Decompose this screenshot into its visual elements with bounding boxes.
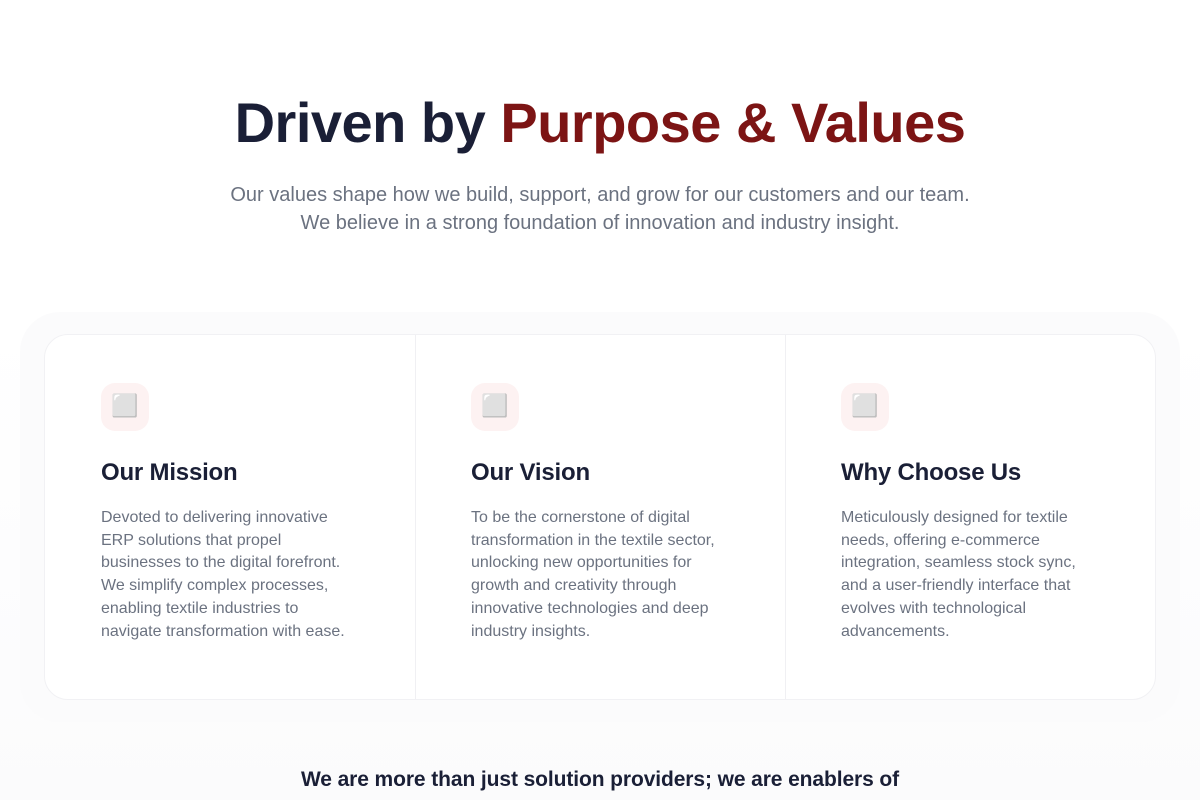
values-section: Driven by Purpose & Values Our values sh… <box>0 0 1200 800</box>
award-icon-badge: ⬜ <box>841 383 889 431</box>
award-icon: ⬜ <box>851 396 878 418</box>
card-title: Our Mission <box>101 459 359 487</box>
value-card-mission: ⬜ Our Mission Devoted to delivering inno… <box>45 335 415 699</box>
values-card-group: ⬜ Our Mission Devoted to delivering inno… <box>44 334 1156 700</box>
section-header: Driven by Purpose & Values Our values sh… <box>0 0 1200 238</box>
page-title: Driven by Purpose & Values <box>0 92 1200 155</box>
value-card-why-choose-us: ⬜ Why Choose Us Meticulously designed fo… <box>785 335 1155 699</box>
card-title: Why Choose Us <box>841 459 1099 487</box>
card-title: Our Vision <box>471 459 729 487</box>
target-icon-badge: ⬜ <box>101 383 149 431</box>
card-body: Meticulously designed for textile needs,… <box>841 507 1091 643</box>
eye-icon-badge: ⬜ <box>471 383 519 431</box>
eye-icon: ⬜ <box>481 396 508 418</box>
section-subtitle: Our values shape how we build, support, … <box>220 181 980 238</box>
value-card-vision: ⬜ Our Vision To be the cornerstone of di… <box>415 335 785 699</box>
target-icon: ⬜ <box>111 396 138 418</box>
bottom-tagline: We are more than just solution providers… <box>0 768 1200 792</box>
headline-accent: Purpose & Values <box>500 91 965 154</box>
card-body: To be the cornerstone of digital transfo… <box>471 507 721 643</box>
card-body: Devoted to delivering innovative ERP sol… <box>101 507 351 643</box>
headline-lead: Driven by <box>235 91 501 154</box>
